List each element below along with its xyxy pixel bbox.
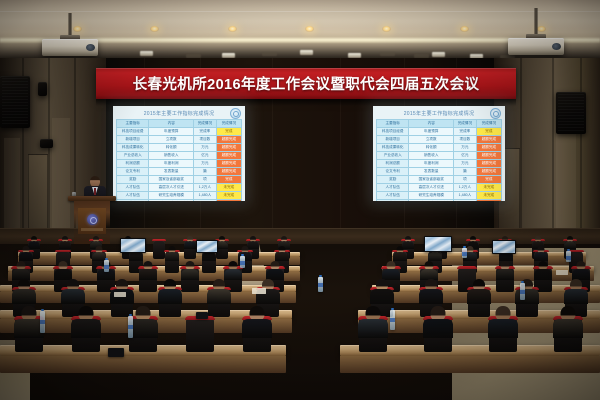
bottle-cap-icon xyxy=(567,249,570,251)
downlight-4 xyxy=(305,26,314,32)
audience-shoulders xyxy=(202,252,216,261)
water-bottle xyxy=(128,316,133,338)
slide-status-cell: 超额完成 xyxy=(216,144,241,152)
audience-member xyxy=(61,279,85,303)
slide-table-row: 论文专利发表数量篇超额完成 xyxy=(377,168,502,176)
slide-table-row: 科技成果转化转化额万元超额完成 xyxy=(117,144,242,152)
slide-cell: 高层次人才引进 xyxy=(409,184,454,192)
slide-status-cell: 滞后 xyxy=(476,200,501,202)
audience-shoulders xyxy=(184,241,196,249)
slide-status-cell: 未完成 xyxy=(216,192,241,200)
bottle-label xyxy=(462,252,467,256)
slide-table-row: 科技成果转化转化额万元超额完成 xyxy=(377,144,502,152)
paper-sheet xyxy=(252,288,266,294)
audience-member xyxy=(488,306,518,336)
slide-cell: 重点建设工程竣工验收 xyxy=(409,200,454,202)
audience-member xyxy=(467,279,491,303)
bottle-label xyxy=(520,290,525,294)
slide-cell: 新增项目 xyxy=(117,136,149,144)
audience-member xyxy=(207,279,231,303)
audience-shoulders xyxy=(207,289,231,304)
slide-cell: 立项数 xyxy=(409,136,454,144)
audience-member xyxy=(572,261,590,279)
bottle-label xyxy=(390,318,395,322)
slide-table-row: 人才队伍高层次人才引进1,2万人未完成 xyxy=(117,184,242,192)
slide-table-row: 论文专利发表数量篇超额完成 xyxy=(117,168,242,176)
audience-member xyxy=(242,306,272,336)
audience-monitor xyxy=(196,240,218,253)
slide-cell: 年度利润 xyxy=(409,160,454,168)
slide-table-row: 产业总收入销售收入亿元超额完成 xyxy=(377,152,502,160)
slide-cell: 利润总额 xyxy=(117,160,149,168)
water-bottle xyxy=(520,283,525,300)
slide-status-cell: 超额完成 xyxy=(216,168,241,176)
slide-table-row: 奖励国家及省部级奖项完成 xyxy=(377,176,502,184)
water-bottle xyxy=(104,260,109,272)
audience-member xyxy=(165,246,179,260)
slide-table-row: 科技项目经费年度预算完成率完成 xyxy=(377,128,502,136)
slide-cell: 发表数量 xyxy=(409,168,454,176)
slide-cell: 科技成果转化 xyxy=(117,144,149,152)
audience-shoulders xyxy=(564,289,588,304)
monitor-screen xyxy=(197,241,217,252)
podium-nameplate xyxy=(81,228,103,231)
audience-member xyxy=(382,261,400,279)
slide-cell: 科技项目经费 xyxy=(117,128,149,136)
slide-status-cell: 超额完成 xyxy=(476,168,501,176)
audience-shoulders xyxy=(534,252,548,261)
paper-sheet xyxy=(114,292,126,297)
slide-cell: 项 xyxy=(454,176,477,184)
water-bottle xyxy=(40,311,45,333)
slide-cell: 转化额 xyxy=(149,144,194,152)
slide-status-cell: 超额完成 xyxy=(476,136,501,144)
slide-cell: 1,2万人 xyxy=(454,184,477,192)
audience-shoulders xyxy=(59,241,71,249)
bottle-cap-icon xyxy=(129,314,132,316)
slide-status-cell: 完成 xyxy=(476,176,501,184)
slide-status-cell: 超额完成 xyxy=(216,152,241,160)
slide-cell: 人才队伍 xyxy=(377,184,409,192)
audience-member xyxy=(266,261,284,279)
audience-member xyxy=(564,279,588,303)
slide-cell: 万元 xyxy=(194,144,217,152)
ceiling-projector-right xyxy=(508,8,564,53)
bottle-cap-icon xyxy=(391,308,394,310)
slide-cell: 1,2万人 xyxy=(194,184,217,192)
slide-cell: 基建 xyxy=(377,200,409,202)
downlight-6 xyxy=(460,26,469,32)
slide-cell: 销售收入 xyxy=(149,152,194,160)
slide-table-row: 科技项目经费年度预算完成率完成 xyxy=(117,128,242,136)
slide-cell: 发表数量 xyxy=(149,168,194,176)
slide-cell: 项目数 xyxy=(194,136,217,144)
audience-shoulders xyxy=(358,319,388,338)
slide-cell: 万元 xyxy=(194,160,217,168)
slide-cell: 科技项目经费 xyxy=(377,128,409,136)
slide-cell: 论文专利 xyxy=(377,168,409,176)
audience-member xyxy=(54,261,72,279)
slide-cell: 销售收入 xyxy=(409,152,454,160)
slide-table-header-row: 主要指标内容完成情况完成情况 xyxy=(117,120,242,128)
audience-shoulders xyxy=(139,269,157,280)
slide-cell: 项目 xyxy=(194,200,217,202)
slide-col-header: 内容 xyxy=(149,120,194,128)
slide-status-cell: 未完成 xyxy=(476,184,501,192)
bottle-label xyxy=(40,320,45,324)
audience-shoulders xyxy=(71,319,101,338)
slide-status-cell: 超额完成 xyxy=(476,144,501,152)
audience-member xyxy=(393,246,407,260)
downlight-2 xyxy=(150,26,159,32)
presenter-tie xyxy=(94,188,96,195)
audience-monitor xyxy=(424,236,452,252)
slide-status-cell: 滞后 xyxy=(216,200,241,202)
slide-status-cell: 完成 xyxy=(216,128,241,136)
bottle-label xyxy=(566,256,571,260)
conference-hall-screenshot: 长春光机所2016年度工作会议暨职代会四届五次会议 2015年主要工作指标完成情… xyxy=(0,0,600,400)
audience-member xyxy=(139,261,157,279)
institute-round-logo-left xyxy=(230,108,241,119)
slide-cell: 重点建设工程竣工验收 xyxy=(149,200,194,202)
banner-drop-shadow xyxy=(96,99,516,106)
audience-shoulders xyxy=(423,319,453,338)
wall-speaker-left xyxy=(0,76,30,128)
slide-table-row: 人才队伍高层次人才引进1,2万人未完成 xyxy=(377,184,502,192)
wall-speaker-small-left xyxy=(38,82,47,96)
slide-cell: 完成率 xyxy=(454,128,477,136)
slide-table-row: 奖励国家及省部级奖项完成 xyxy=(117,176,242,184)
audience-shoulders xyxy=(496,269,514,280)
slide-cell: 人才队伍 xyxy=(377,192,409,200)
slide-cell: 人才队伍 xyxy=(117,192,149,200)
slide-cell: 转化额 xyxy=(409,144,454,152)
desk-front-panel xyxy=(340,356,600,373)
monitor-screen xyxy=(121,239,145,252)
slide-status-cell: 超额完成 xyxy=(476,152,501,160)
bottle-cap-icon xyxy=(241,254,244,256)
audience-member xyxy=(423,306,453,336)
slide-cell: 亿元 xyxy=(194,152,217,160)
slide-table-row: 新增项目立项数项目数超额完成 xyxy=(117,136,242,144)
bottle-label xyxy=(104,265,109,269)
projection-screen-right: 2015年主要工作指标完成情况 主要指标内容完成情况完成情况 科技项目经费年度预… xyxy=(373,106,505,201)
slide-cell: 高层次人才引进 xyxy=(149,184,194,192)
slide-status-cell: 超额完成 xyxy=(216,136,241,144)
slide-cell: 完成率 xyxy=(194,128,217,136)
monitor-screen xyxy=(425,237,451,251)
slide-title-right: 2015年主要工作指标完成情况 xyxy=(404,110,475,117)
audience-shoulders xyxy=(370,289,394,304)
bottle-label xyxy=(240,261,245,265)
chair-red-trim xyxy=(55,250,71,252)
slide-status-cell: 完成 xyxy=(476,128,501,136)
bottle-cap-icon xyxy=(463,246,466,248)
audience-member xyxy=(370,279,394,303)
event-banner-text: 长春光机所2016年度工作会议暨职代会四届五次会议 xyxy=(133,73,480,94)
bottle-label xyxy=(318,283,323,287)
bottle-label xyxy=(128,325,133,329)
slide-cell: 科技成果转化 xyxy=(377,144,409,152)
chair xyxy=(153,240,165,259)
slide-cell: 项目 xyxy=(454,200,477,202)
slide-cell: 篇 xyxy=(454,168,477,176)
audience-shoulders xyxy=(129,252,143,261)
water-bottle xyxy=(240,256,245,268)
audience-member xyxy=(158,279,182,303)
bottle-cap-icon xyxy=(319,275,322,277)
audience-shoulders xyxy=(158,289,182,304)
audience-shoulders xyxy=(393,252,407,261)
slide-table-row: 人才队伍研究生培养规模1,480人未完成 xyxy=(377,192,502,200)
water-bottle xyxy=(390,310,395,330)
slide-table-left: 主要指标内容完成情况完成情况 科技项目经费年度预算完成率完成新增项目立项数项目数… xyxy=(116,119,242,201)
slide-col-header: 主要指标 xyxy=(117,120,149,128)
water-bottle xyxy=(462,248,467,258)
projection-screen-left: 2015年主要工作指标完成情况 主要指标内容完成情况完成情况 科技项目经费年度预… xyxy=(113,106,245,201)
wall-speaker-right xyxy=(556,92,586,134)
audience-shoulders xyxy=(553,319,583,338)
slide-table-row: 人才队伍研究生培养规模1,480人未完成 xyxy=(117,192,242,200)
wall-light-fixture-left xyxy=(40,139,53,148)
slide-cell: 年度预算 xyxy=(149,128,194,136)
slide-col-header: 完成情况 xyxy=(454,120,477,128)
audience-member xyxy=(59,236,71,248)
slide-cell: 万元 xyxy=(454,144,477,152)
slide-cell: 项目数 xyxy=(454,136,477,144)
bottle-cap-icon xyxy=(521,281,524,283)
slide-status-cell: 未完成 xyxy=(216,184,241,192)
slide-cell: 国家及省部级奖 xyxy=(149,176,194,184)
slide-table-row: 基建重点建设工程竣工验收项目滞后 xyxy=(377,200,502,202)
audience-shoulders xyxy=(181,269,199,280)
slide-cell: 研究生培养规模 xyxy=(149,192,194,200)
audience-shoulders xyxy=(564,241,576,249)
slide-table-body: 科技项目经费年度预算完成率完成新增项目立项数项目数超额完成科技成果转化转化额万元… xyxy=(117,128,242,202)
slide-cell: 1,480人 xyxy=(194,192,217,200)
bottle-cap-icon xyxy=(41,309,44,311)
slide-cell: 项 xyxy=(194,176,217,184)
slide-status-cell: 完成 xyxy=(216,176,241,184)
chair-red-trim xyxy=(457,266,477,269)
paper-sheet xyxy=(556,270,568,275)
audience-shoulders xyxy=(515,289,539,304)
slide-cell: 年度利润 xyxy=(149,160,194,168)
slide-cell: 奖励 xyxy=(377,176,409,184)
slide-status-cell: 未完成 xyxy=(476,192,501,200)
slide-cell: 研究生培养规模 xyxy=(409,192,454,200)
chair-red-trim xyxy=(152,239,166,241)
audience-member xyxy=(419,279,443,303)
slide-cell: 论文专利 xyxy=(117,168,149,176)
downlight-5 xyxy=(382,26,391,32)
bottle-cap-icon xyxy=(105,258,108,260)
slide-table-row: 利润总额年度利润万元超额完成 xyxy=(377,160,502,168)
audience-member xyxy=(534,246,548,260)
chair xyxy=(186,317,214,352)
audience-member xyxy=(420,261,438,279)
audience-shoulders xyxy=(242,319,272,338)
audience-member xyxy=(71,306,101,336)
audience-shoulders xyxy=(419,289,443,304)
slide-header-right: 2015年主要工作指标完成情况 xyxy=(376,108,502,119)
slide-status-cell: 超额完成 xyxy=(216,160,241,168)
audience-shoulders xyxy=(488,319,518,338)
water-bottle xyxy=(318,277,323,292)
downlight-3 xyxy=(228,26,237,32)
audience-member xyxy=(224,261,242,279)
slide-cell: 万元 xyxy=(454,160,477,168)
desk-front-panel xyxy=(0,356,286,373)
water-bottle xyxy=(566,251,571,262)
audience-member xyxy=(12,279,36,303)
smartphone-on-desk xyxy=(108,348,124,357)
slide-col-header: 完成情况 xyxy=(194,120,217,128)
audience-shoulders xyxy=(19,252,33,261)
audience-member xyxy=(12,261,30,279)
slide-table-row: 新增项目立项数项目数超额完成 xyxy=(377,136,502,144)
audience-shoulders xyxy=(275,252,289,261)
smartphone-on-desk xyxy=(196,312,208,319)
audience-member xyxy=(553,306,583,336)
institute-emblem-icon xyxy=(87,214,98,225)
slide-cell: 亿元 xyxy=(454,152,477,160)
audience-shoulders xyxy=(61,289,85,304)
slide-cell: 利润总额 xyxy=(377,160,409,168)
slide-cell: 新增项目 xyxy=(377,136,409,144)
slide-col-header: 完成情况 xyxy=(216,120,241,128)
slide-cell: 产业总收入 xyxy=(377,152,409,160)
audience-shoulders xyxy=(165,252,179,261)
audience-shoulders xyxy=(428,252,442,261)
audience-member xyxy=(275,246,289,260)
audience-monitor xyxy=(120,238,146,253)
institute-round-logo-right xyxy=(490,108,501,119)
audience-member xyxy=(515,279,539,303)
slide-col-header: 主要指标 xyxy=(377,120,409,128)
slide-col-header: 内容 xyxy=(409,120,454,128)
slide-table-body: 科技项目经费年度预算完成率完成新增项目立项数项目数超额完成科技成果转化转化额万元… xyxy=(377,128,502,202)
slide-cell: 国家及省部级奖 xyxy=(409,176,454,184)
audience-member xyxy=(496,261,514,279)
slide-cell: 年度预算 xyxy=(409,128,454,136)
slide-cell: 人才队伍 xyxy=(117,184,149,192)
audience-member xyxy=(181,261,199,279)
slide-cell: 基建 xyxy=(117,200,149,202)
audience-member xyxy=(358,306,388,336)
monitor-screen xyxy=(493,241,515,253)
audience-shoulders xyxy=(12,289,36,304)
audience-member xyxy=(184,236,196,248)
slide-cell: 立项数 xyxy=(149,136,194,144)
slide-table-row: 基建重点建设工程竣工验收项目滞后 xyxy=(117,200,242,202)
slide-cell: 奖励 xyxy=(117,176,149,184)
slide-cell: 1,480人 xyxy=(454,192,477,200)
slide-cell: 产业总收入 xyxy=(117,152,149,160)
slide-cell: 篇 xyxy=(194,168,217,176)
slide-title-left: 2015年主要工作指标完成情况 xyxy=(144,110,215,117)
event-banner: 长春光机所2016年度工作会议暨职代会四届五次会议 xyxy=(96,68,516,99)
audience-member xyxy=(564,236,576,248)
slide-col-header: 完成情况 xyxy=(476,120,501,128)
slide-table-header-row: 主要指标内容完成情况完成情况 xyxy=(377,120,502,128)
audience-member xyxy=(110,279,134,303)
audience-member xyxy=(534,261,552,279)
slide-status-cell: 超额完成 xyxy=(476,160,501,168)
audience-member xyxy=(19,246,33,260)
audience-monitor xyxy=(492,240,516,254)
slide-header-left: 2015年主要工作指标完成情况 xyxy=(116,108,242,119)
ceiling-projector-left xyxy=(42,13,98,54)
audience-shoulders xyxy=(467,289,491,304)
slide-table-right: 主要指标内容完成情况完成情况 科技项目经费年度预算完成率完成新增项目立项数项目数… xyxy=(376,119,502,201)
slide-table-row: 产业总收入销售收入亿元超额完成 xyxy=(117,152,242,160)
slide-table-row: 利润总额年度利润万元超额完成 xyxy=(117,160,242,168)
